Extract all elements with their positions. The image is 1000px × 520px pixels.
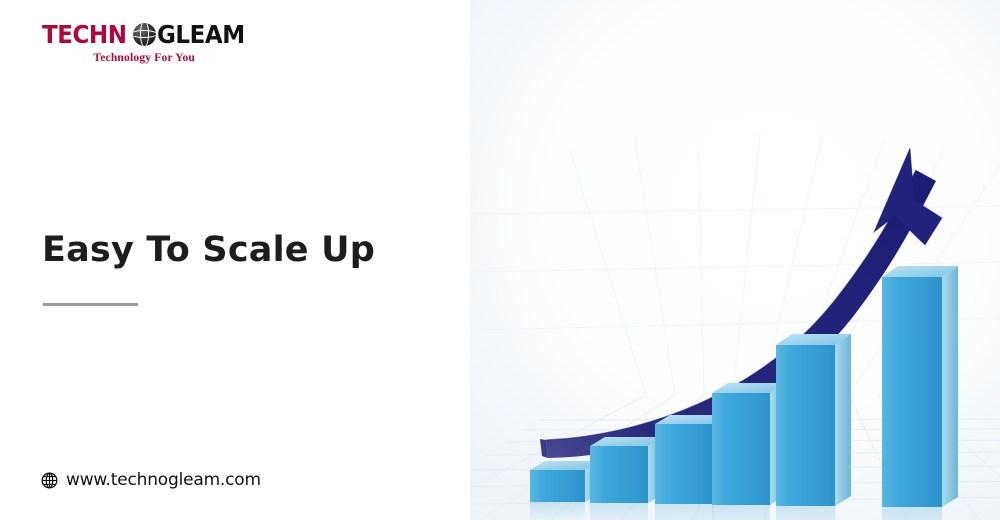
title-divider xyxy=(43,303,138,306)
globe-icon xyxy=(41,472,58,489)
bar-2 xyxy=(590,437,663,503)
growth-chart-image xyxy=(470,0,1000,520)
bar-4 xyxy=(712,383,786,505)
brand-logo[interactable]: TECHN GLEAM Technology For You xyxy=(42,20,242,70)
promo-banner: TECHN GLEAM Technology For You Easy To S… xyxy=(0,0,1000,520)
growth-chart-svg xyxy=(470,0,1000,520)
website-url-text: www.technogleam.com xyxy=(66,470,261,490)
bar-5 xyxy=(776,334,851,506)
logo-globe-icon xyxy=(133,23,156,46)
logo-text-techn: TECHN xyxy=(42,22,126,47)
website-link[interactable]: www.technogleam.com xyxy=(41,470,261,490)
page-title: Easy To Scale Up xyxy=(42,228,375,272)
logo-wordmark: TECHN GLEAM xyxy=(42,20,242,48)
bar-6 xyxy=(882,266,958,507)
logo-text-gleam: GLEAM xyxy=(157,22,245,47)
logo-tagline: Technology For You xyxy=(42,52,195,64)
bar-1 xyxy=(530,461,600,502)
